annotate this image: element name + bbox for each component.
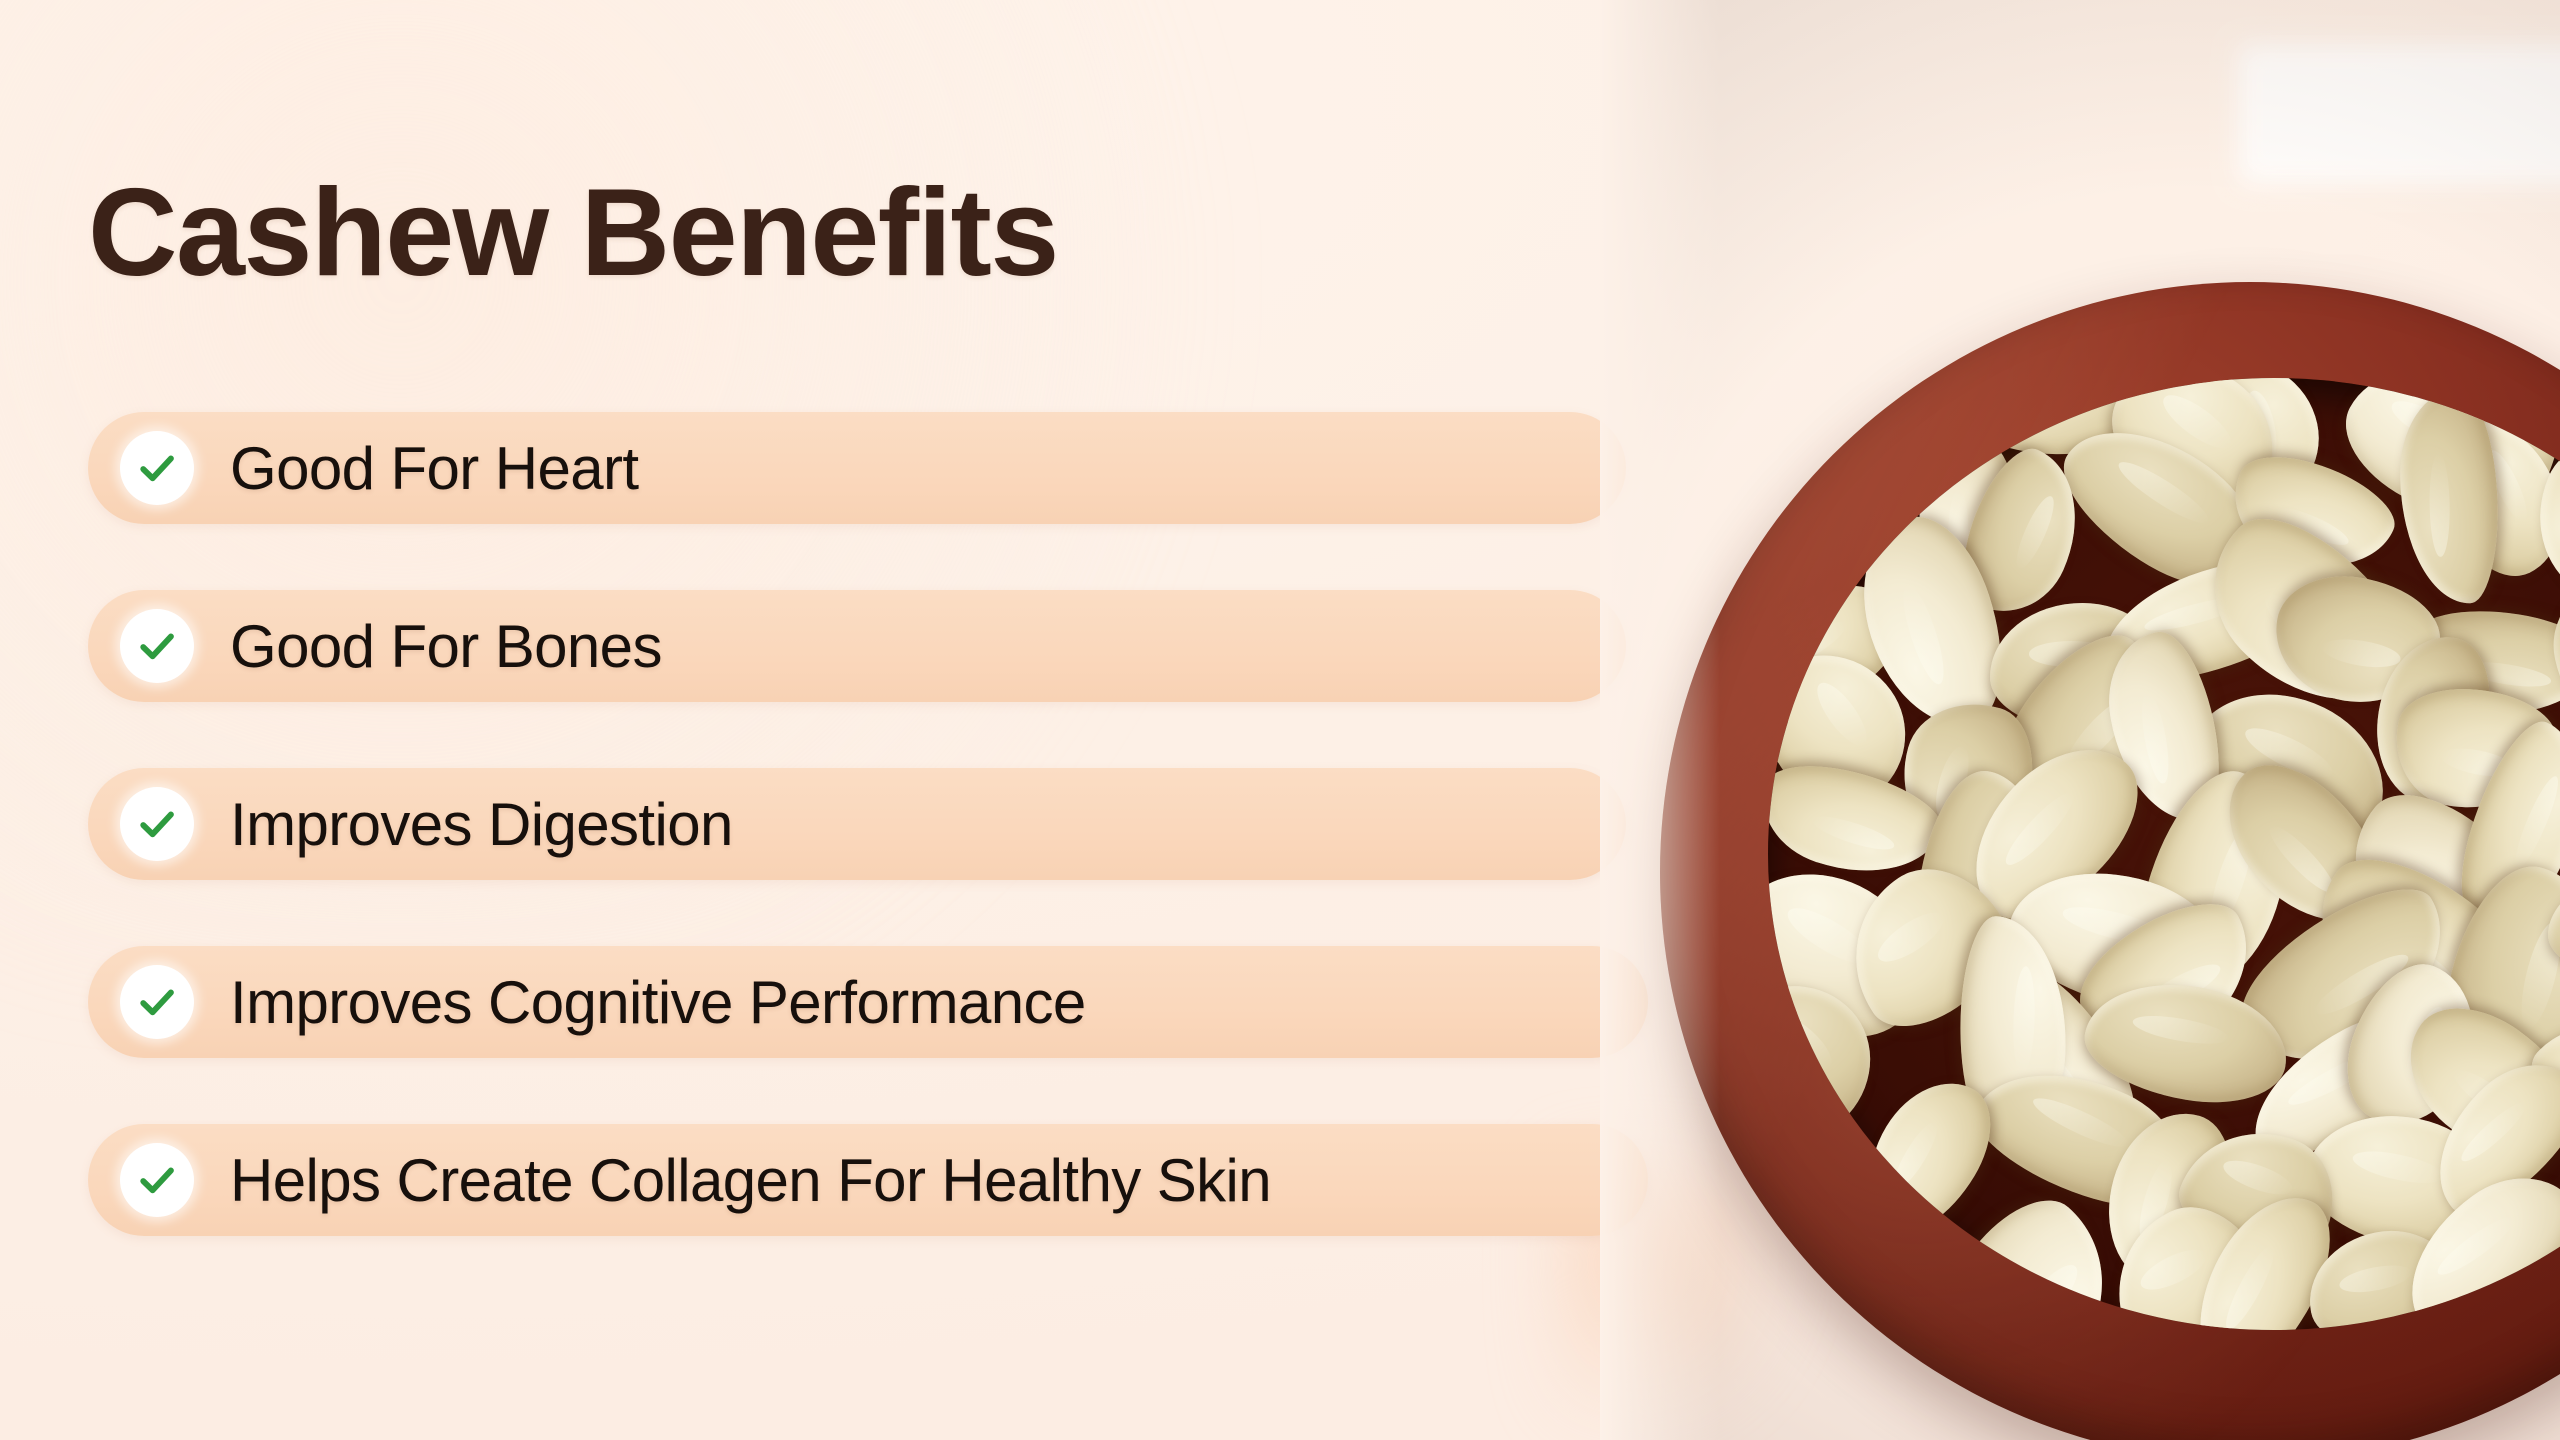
wooden-bowl xyxy=(1660,282,2560,1440)
check-icon xyxy=(120,1143,194,1217)
benefit-label: Good For Bones xyxy=(230,612,662,681)
benefit-label: Good For Heart xyxy=(230,434,638,503)
page-title: Cashew Benefits xyxy=(88,168,1058,299)
benefit-label: Helps Create Collagen For Healthy Skin xyxy=(230,1146,1271,1215)
cashew-nut xyxy=(2398,389,2499,605)
bowl-interior xyxy=(1768,378,2560,1330)
benefit-item[interactable]: Helps Create Collagen For Healthy Skin xyxy=(88,1124,1648,1236)
slide-canvas: Cashew Benefits Good For Heart Good For … xyxy=(0,0,2560,1440)
cashew-bowl-photo xyxy=(1600,0,2560,1440)
benefit-label: Improves Digestion xyxy=(230,790,733,859)
check-icon xyxy=(120,787,194,861)
benefit-item[interactable]: Improves Digestion xyxy=(88,768,1626,880)
check-icon xyxy=(120,609,194,683)
check-icon xyxy=(120,965,194,1039)
benefit-item[interactable]: Improves Cognitive Performance xyxy=(88,946,1648,1058)
benefit-label: Improves Cognitive Performance xyxy=(230,968,1086,1037)
benefit-item[interactable]: Good For Heart xyxy=(88,412,1626,524)
check-icon xyxy=(120,431,194,505)
benefits-list: Good For Heart Good For Bones Improves D… xyxy=(88,412,1648,1236)
benefit-item[interactable]: Good For Bones xyxy=(88,590,1626,702)
